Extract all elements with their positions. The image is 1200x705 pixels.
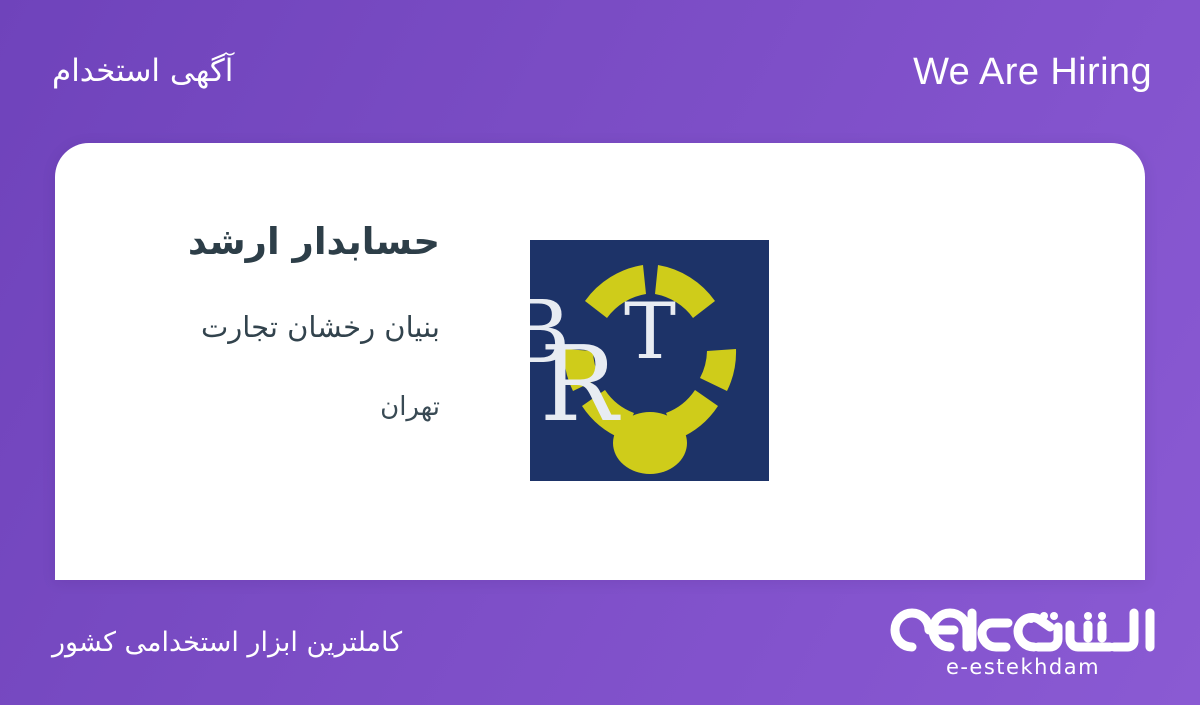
brt-company-logo-icon: B T R [530,240,769,481]
e-estekhdam-brand[interactable]: e-estekhdam [888,607,1158,678]
job-ad-banner: We Are Hiring آگهی استخدام حسابدار ارشد … [0,0,1200,705]
job-card[interactable]: حسابدار ارشد بنیان رخشان تجارت تهران [55,143,1145,580]
job-card-content: حسابدار ارشد بنیان رخشان تجارت تهران [55,143,1145,580]
site-tagline: کاملترین ابزار استخدامی کشور [52,629,402,656]
banner-footer: کاملترین ابزار استخدامی کشور [0,580,1200,705]
company-logo-wrapper: B T R [530,143,769,481]
svg-text:R: R [540,323,621,445]
banner-header: We Are Hiring آگهی استخدام [0,0,1200,143]
brand-latin-name: e-estekhdam [946,657,1100,678]
job-info-block: حسابدار ارشد بنیان رخشان تجارت تهران [55,143,485,424]
we-are-hiring-label: We Are Hiring [913,53,1152,91]
company-name: بنیان رخشان تجارت [55,310,440,345]
job-location: تهران [55,392,440,423]
svg-text:T: T [624,287,676,377]
e-estekhdam-logo-icon [888,607,1158,653]
job-title: حسابدار ارشد [55,221,440,264]
job-ad-label: آگهی استخدام [52,56,233,87]
